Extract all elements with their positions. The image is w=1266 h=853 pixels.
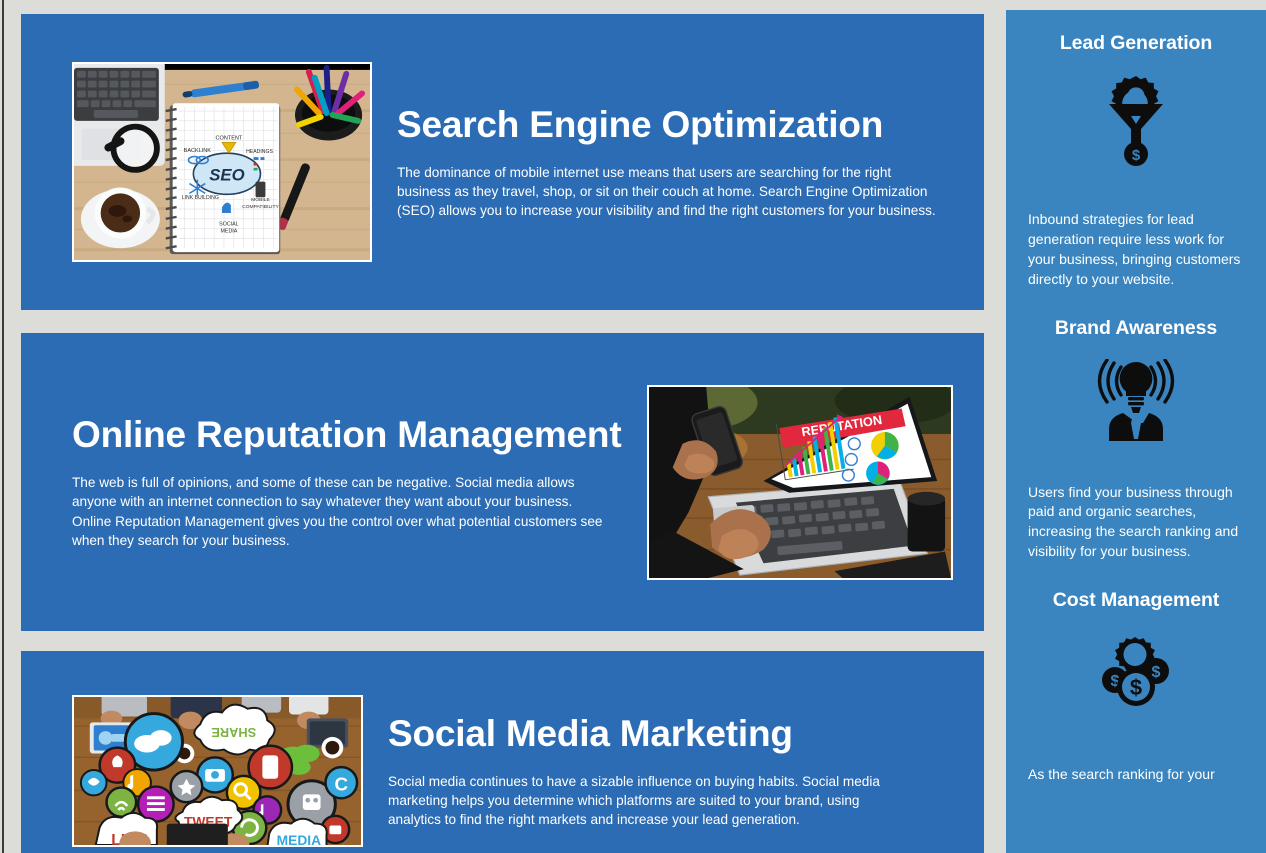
seo-desk-photo: SEO CONTENT BACKLINK HEADINGS LINK BUILD… xyxy=(72,62,372,262)
panel-title-reputation: Online Reputation Management xyxy=(72,414,623,455)
social-media-icons-photo: SHARE xyxy=(72,695,363,847)
gear-coins-dollar-icon: $ $ $ xyxy=(1028,620,1244,725)
svg-text:MEDIA: MEDIA xyxy=(220,229,237,235)
sidebar-title-cost-management: Cost Management xyxy=(1028,589,1244,612)
panel-online-reputation-management[interactable]: Online Reputation Management The web is … xyxy=(21,333,984,631)
sidebar-body-cost-management: As the search ranking for your xyxy=(1028,765,1244,785)
svg-text:MEDIA: MEDIA xyxy=(277,833,322,845)
svg-text:SHARE: SHARE xyxy=(211,725,256,740)
panel-search-engine-optimization[interactable]: SEO CONTENT BACKLINK HEADINGS LINK BUILD… xyxy=(21,14,984,310)
reputation-laptop-photo: REPUTATION xyxy=(647,385,953,580)
svg-text:BACKLINK: BACKLINK xyxy=(184,148,212,154)
svg-text:LINK BUILDING: LINK BUILDING xyxy=(182,195,219,201)
svg-text:SEO: SEO xyxy=(209,166,244,185)
panel-title-seo: Search Engine Optimization xyxy=(397,104,952,145)
sidebar-card-cost-management[interactable]: Cost Management $ $ $ As t xyxy=(1006,562,1266,785)
sidebar-card-brand-awareness[interactable]: Brand Awareness xyxy=(1006,290,1266,563)
svg-text:HEADINGS: HEADINGS xyxy=(246,149,273,155)
reputation-image-wrap: REPUTATION xyxy=(647,385,953,580)
reputation-text-block: Online Reputation Management The web is … xyxy=(72,414,623,550)
main-content-column: SEO CONTENT BACKLINK HEADINGS LINK BUILD… xyxy=(21,0,984,853)
sidebar-body-lead-generation: Inbound strategies for lead generation r… xyxy=(1028,210,1244,290)
social-text-block: Social Media Marketing Social media cont… xyxy=(388,713,952,830)
left-edge-rule xyxy=(2,0,4,853)
lightbulb-person-broadcast-icon xyxy=(1028,348,1244,453)
page-root: SEO CONTENT BACKLINK HEADINGS LINK BUILD… xyxy=(0,0,1266,853)
svg-text:$: $ xyxy=(1132,147,1141,164)
svg-text:COMPATIBILITY: COMPATIBILITY xyxy=(242,204,279,210)
sidebar-title-brand-awareness: Brand Awareness xyxy=(1028,317,1244,340)
svg-text:$: $ xyxy=(1130,675,1142,700)
panel-title-social: Social Media Marketing xyxy=(388,713,952,754)
panel-body-seo: The dominance of mobile internet use mea… xyxy=(397,163,942,221)
sidebar-card-lead-generation[interactable]: Lead Generation $ Inbound strategies for… xyxy=(1006,10,1266,290)
sidebar-body-brand-awareness: Users find your business through paid an… xyxy=(1028,483,1244,563)
seo-text-block: Search Engine Optimization The dominance… xyxy=(397,104,952,221)
sidebar: Lead Generation $ Inbound strategies for… xyxy=(1006,10,1266,853)
social-image-wrap: SHARE xyxy=(72,695,363,847)
svg-text:MOBILE: MOBILE xyxy=(251,197,270,203)
svg-text:SOCIAL: SOCIAL xyxy=(219,222,239,228)
panel-body-reputation: The web is full of opinions, and some of… xyxy=(72,473,607,550)
svg-text:C: C xyxy=(335,774,349,795)
svg-text:CONTENT: CONTENT xyxy=(216,135,243,141)
sidebar-title-lead-generation: Lead Generation xyxy=(1028,32,1244,55)
funnel-gear-dollar-icon: $ xyxy=(1028,65,1244,175)
panel-body-social: Social media continues to have a sizable… xyxy=(388,772,913,830)
panel-social-media-marketing[interactable]: SHARE xyxy=(21,651,984,853)
seo-image-wrap: SEO CONTENT BACKLINK HEADINGS LINK BUILD… xyxy=(72,62,372,262)
